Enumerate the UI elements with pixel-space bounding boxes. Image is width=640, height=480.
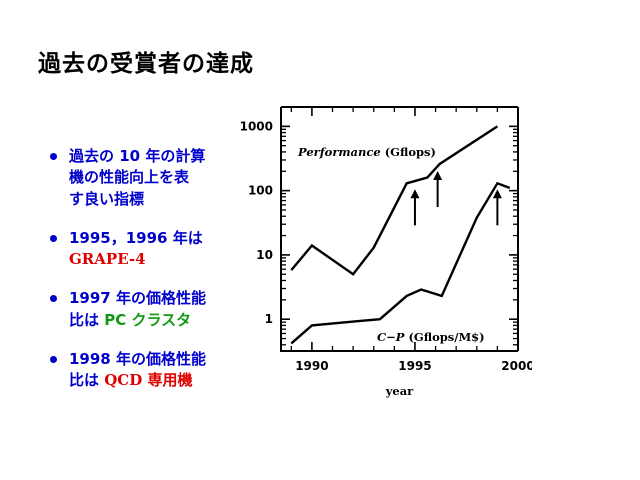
bullet-dot-icon bbox=[50, 153, 57, 160]
annotation-arrow-2 bbox=[433, 171, 442, 207]
bullet-highlight-pc-cluster: PC クラスタ bbox=[104, 311, 191, 329]
bullet-dot-icon bbox=[50, 295, 57, 302]
y-tick-label: 1 bbox=[265, 312, 273, 326]
annotation-arrow-3 bbox=[493, 189, 502, 225]
page-title: 過去の受賞者の達成 bbox=[38, 44, 254, 78]
x-tick-label: 1990 bbox=[295, 359, 328, 373]
x-tick-label: 1995 bbox=[398, 359, 431, 373]
bullet-line-text: 比は bbox=[69, 311, 104, 329]
annotation-arrow-1 bbox=[410, 189, 419, 225]
chart-tick-marks bbox=[281, 107, 518, 351]
line-cost-performance bbox=[291, 183, 509, 343]
x-tick-label: 2000 bbox=[501, 359, 532, 373]
bullet-dot-icon bbox=[50, 356, 57, 363]
chart-axis-frame bbox=[281, 107, 518, 351]
bullet-dot-icon bbox=[50, 235, 57, 242]
bullet-line-text: 比は bbox=[69, 371, 104, 389]
bullet-highlight-qcd: QCD 専用機 bbox=[104, 371, 192, 389]
series-label-cost-performance: C−P (Gflops/M$) bbox=[377, 330, 485, 344]
series-label-performance: Performance (Gflops) bbox=[297, 145, 436, 159]
x-axis-tick-labels: 199019952000 bbox=[295, 359, 532, 373]
slide-canvas: 過去の受賞者の達成 過去の 10 年の計算 機の性能向上を表 す良い指標 199… bbox=[0, 0, 640, 480]
x-axis-title: year bbox=[385, 384, 414, 398]
performance-chart: 1101001000 199019952000 Performance (Gfl… bbox=[222, 96, 532, 416]
y-tick-label: 1000 bbox=[240, 119, 273, 133]
y-tick-label: 100 bbox=[248, 184, 273, 198]
y-axis-tick-labels: 1101001000 bbox=[240, 119, 273, 326]
y-tick-label: 10 bbox=[256, 248, 273, 262]
